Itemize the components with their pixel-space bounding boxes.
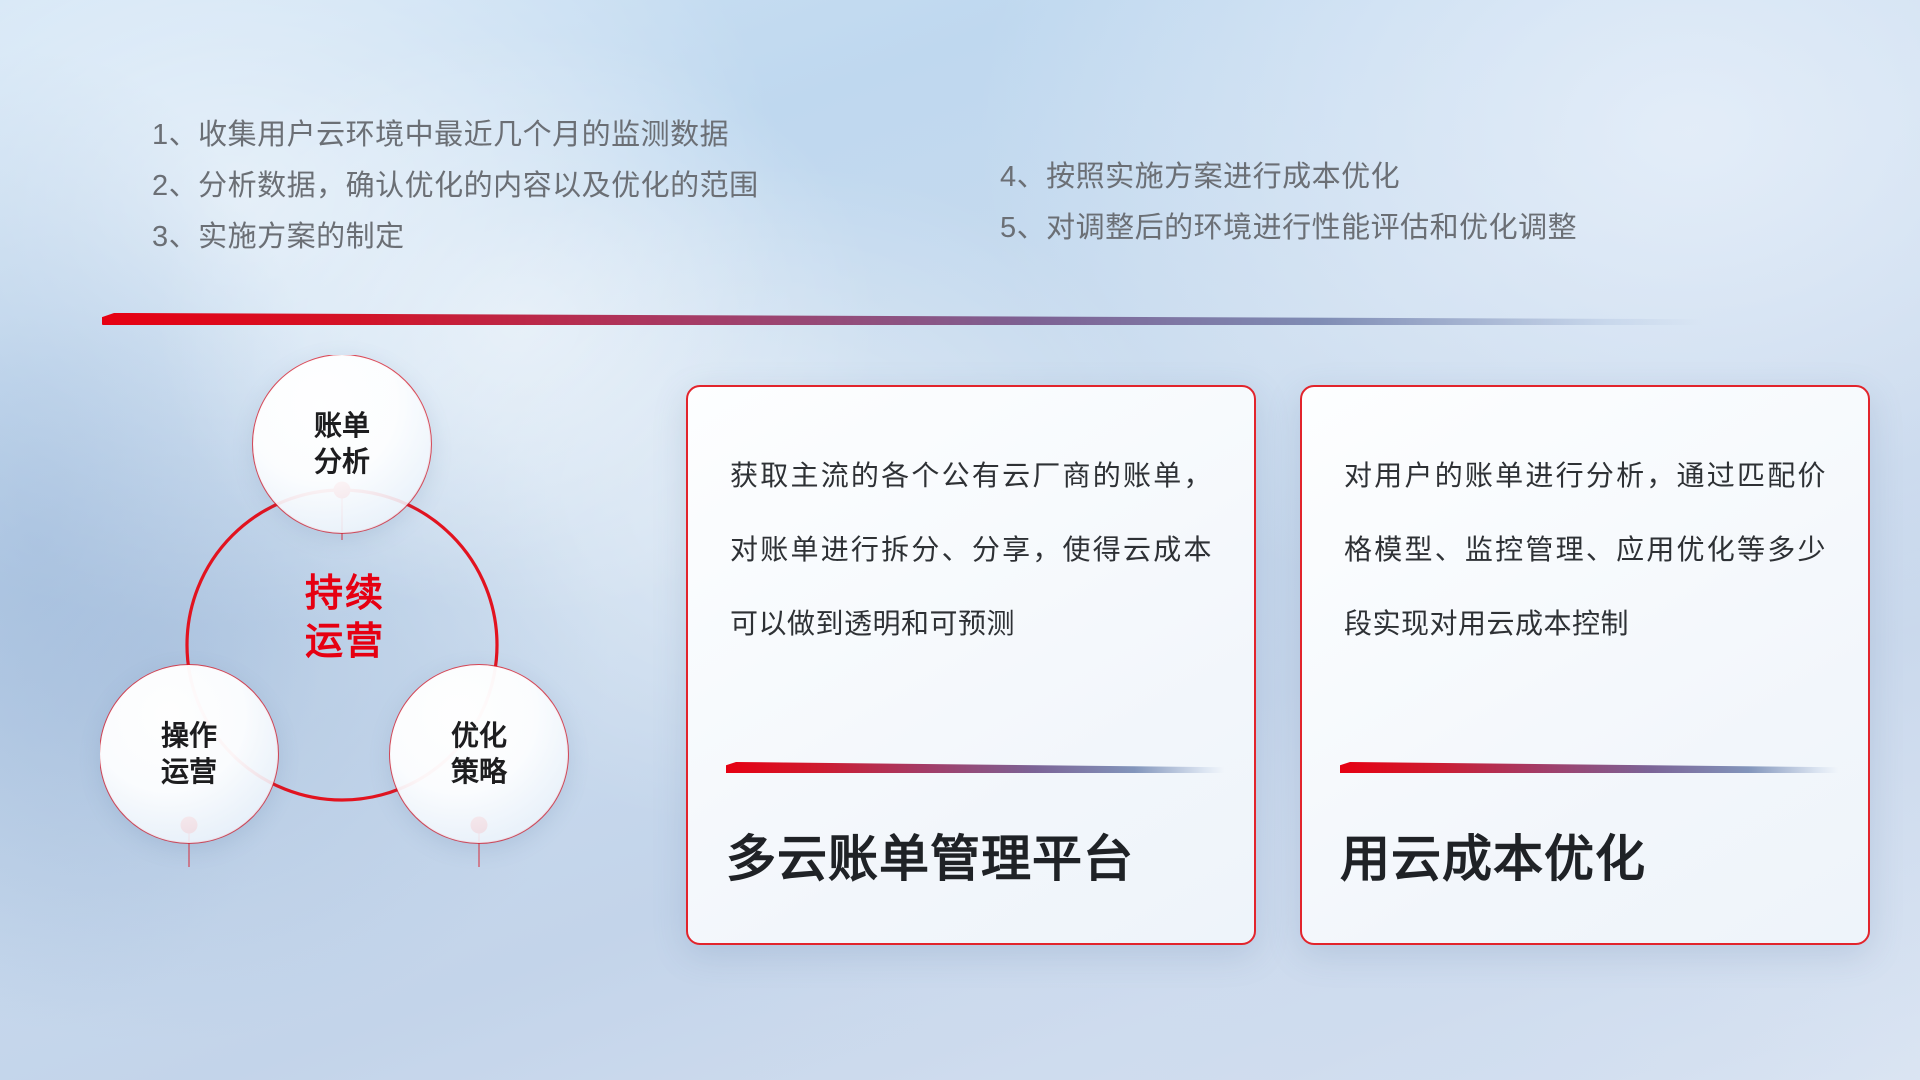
bullet-item-4: 4、按照实施方案进行成本优化 bbox=[1000, 152, 1577, 203]
bubble-label-line2: 分析 bbox=[314, 444, 370, 480]
feature-card-cloud-cost-optimization[interactable]: 对用户的账单进行分析，通过匹配价格模型、监控管理、应用优化等多少段实现对用云成本… bbox=[1300, 385, 1870, 945]
center-label-line1: 持续 bbox=[265, 570, 425, 618]
card-body-text: 对用户的账单进行分析，通过匹配价格模型、监控管理、应用优化等多少段实现对用云成本… bbox=[1302, 387, 1868, 762]
bullet-list-left: 1、收集用户云环境中最近几个月的监测数据 2、分析数据，确认优化的内容以及优化的… bbox=[152, 110, 759, 263]
section-divider-rule bbox=[102, 313, 1702, 325]
card-title: 用云成本优化 bbox=[1302, 773, 1868, 943]
bullet-item-3: 3、实施方案的制定 bbox=[152, 212, 759, 263]
bullet-item-5: 5、对调整后的环境进行性能评估和优化调整 bbox=[1000, 203, 1577, 254]
bullet-item-1: 1、收集用户云环境中最近几个月的监测数据 bbox=[152, 110, 759, 161]
bullet-item-2: 2、分析数据，确认优化的内容以及优化的范围 bbox=[152, 161, 759, 212]
diagram-bubble-bill-analysis[interactable]: 账单 分析 bbox=[253, 355, 431, 533]
bubble-label-line2: 运营 bbox=[161, 754, 217, 790]
center-label-line2: 运营 bbox=[265, 618, 425, 666]
slide-canvas: 1、收集用户云环境中最近几个月的监测数据 2、分析数据，确认优化的内容以及优化的… bbox=[0, 0, 1920, 1080]
bubble-label-line1: 操作 bbox=[161, 718, 217, 754]
card-body-text: 获取主流的各个公有云厂商的账单，对账单进行拆分、分享，使得云成本可以做到透明和可… bbox=[688, 387, 1254, 762]
card-title: 多云账单管理平台 bbox=[688, 773, 1254, 943]
diagram-center-label: 持续 运营 bbox=[265, 570, 425, 666]
bullet-list-right: 4、按照实施方案进行成本优化 5、对调整后的环境进行性能评估和优化调整 bbox=[1000, 152, 1577, 254]
card-divider-rule bbox=[726, 762, 1224, 773]
diagram-bubble-optimize-policy[interactable]: 优化 策略 bbox=[390, 665, 568, 843]
feature-card-multi-cloud-billing-platform[interactable]: 获取主流的各个公有云厂商的账单，对账单进行拆分、分享，使得云成本可以做到透明和可… bbox=[686, 385, 1256, 945]
bubble-label-line1: 优化 bbox=[451, 718, 507, 754]
bubble-label-line2: 策略 bbox=[451, 754, 507, 790]
card-divider-rule bbox=[1340, 762, 1838, 773]
diagram-bubble-ops-operation[interactable]: 操作 运营 bbox=[100, 665, 278, 843]
bubble-label-line1: 账单 bbox=[314, 408, 370, 444]
continuous-operation-diagram: 账单 分析 操作 运营 优化 策略 持续 运营 bbox=[100, 355, 660, 955]
